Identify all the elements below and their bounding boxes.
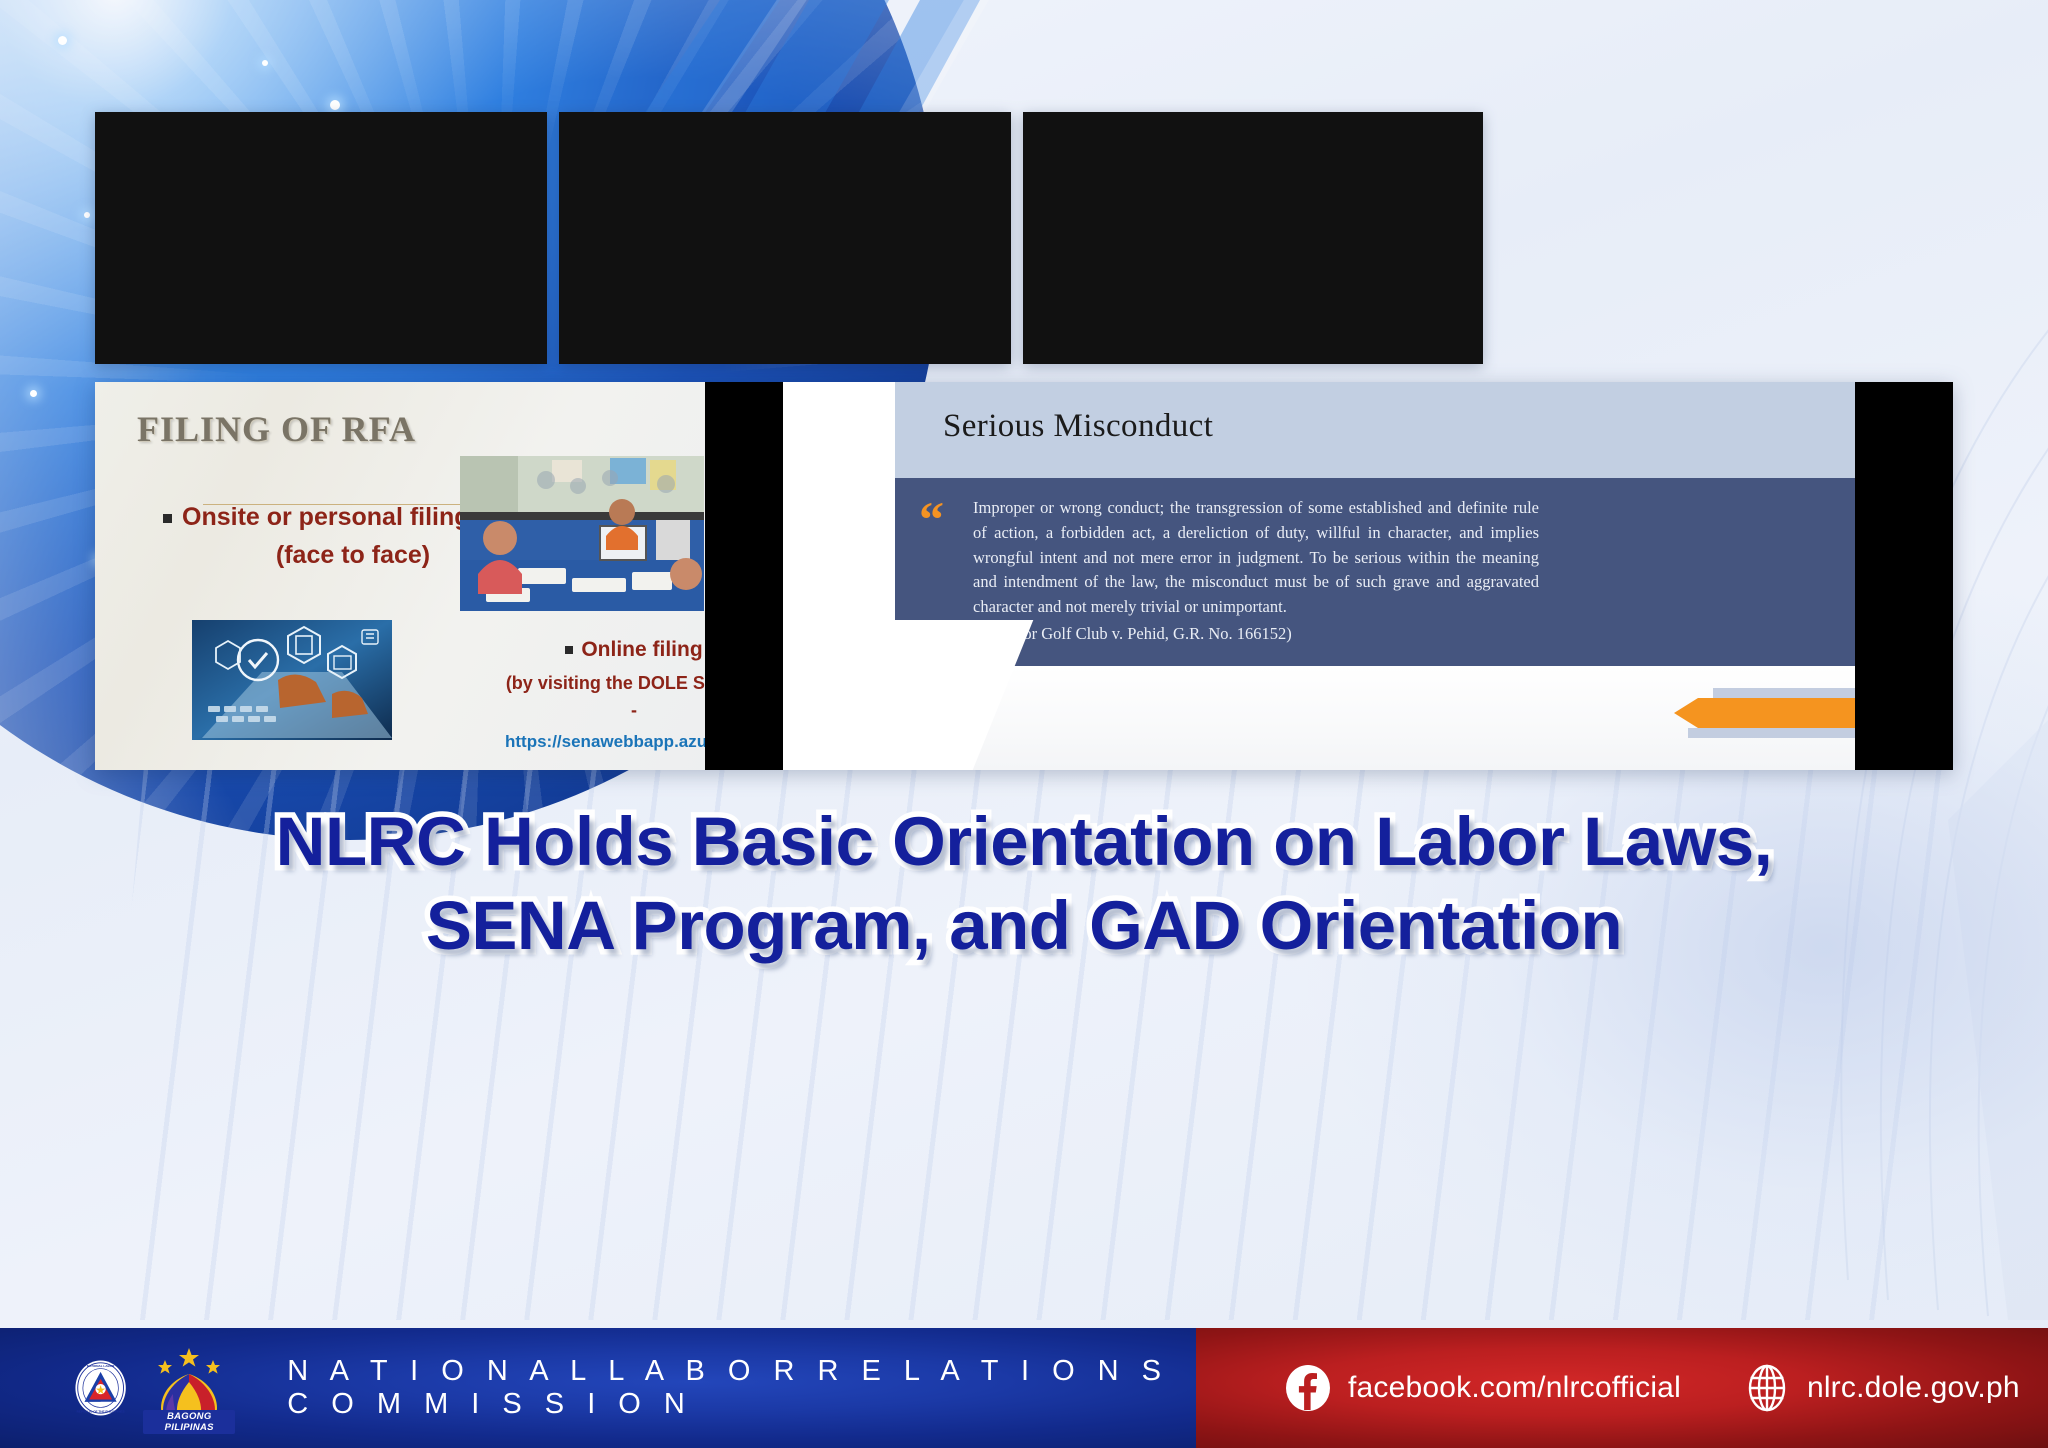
bullet-online-filing-line1: Online filing [581,638,702,661]
zoom-tile-grid [95,112,547,364]
zoom-tile-grid [1023,112,1483,364]
bagong-pilipinas-logo: BAGONG PILIPINAS [143,1344,235,1432]
quotation-mark-icon: “ [919,494,944,544]
photo-onsite-filing-svg [460,456,704,611]
quote-text-block: Improper or wrong conduct; the transgres… [973,496,1539,647]
svg-text:REPUBLIC OF THE PHILIPPINES: REPUBLIC OF THE PHILIPPINES [77,1410,125,1414]
svg-text:NATIONAL LABOR: NATIONAL LABOR [87,1364,115,1368]
overlay-video-column-middle[interactable] [705,382,787,770]
overlay-video-column-right[interactable] [1855,382,1953,770]
headline-line-2: SENA Program, and GAD Orientation [0,884,2048,968]
photo-online-filing-svg [192,620,392,740]
photo-onsite-filing-counter [460,456,704,611]
footer-organization-name: N A T I O N A L L A B O R R E L A T I O … [287,1355,1196,1421]
headline-line-1: NLRC Holds Basic Orientation on Labor La… [0,800,2048,884]
footer-blue-section: NATIONAL LABOR REPUBLIC OF THE PHILIPPIN… [0,1328,1196,1448]
website-url-text: nlrc.dole.gov.ph [1807,1371,2020,1405]
footer-red-section: facebook.com/nlrcofficial nlrc.dole.gov.… [1196,1328,2048,1448]
page-headline: NLRC Holds Basic Orientation on Labor La… [0,800,2048,968]
bagong-pilipinas-label: BAGONG PILIPINAS [143,1410,235,1434]
facebook-icon [1284,1364,1332,1412]
zoom-gallery-panel-right[interactable] [1023,112,1483,364]
nlrc-seal-icon: NATIONAL LABOR REPUBLIC OF THE PHILIPPIN… [72,1347,129,1429]
quote-body: Improper or wrong conduct; the transgres… [973,498,1539,616]
bullet-square-icon-2 [565,646,573,654]
footer-website-item[interactable]: nlrc.dole.gov.ph [1743,1364,2020,1412]
quote-citation: (Villamor Golf Club v. Pehid, G.R. No. 1… [973,622,1539,647]
zoom-tile-grid [559,112,1011,364]
slide-title-serious-misconduct: Serious Misconduct [943,408,1213,445]
zoom-gallery-panel-middle[interactable] [559,112,1011,364]
footer-facebook-item[interactable]: facebook.com/nlrcofficial [1284,1364,1681,1412]
facebook-handle-text: facebook.com/nlrcofficial [1348,1371,1681,1405]
photo-online-filing-laptop [192,620,392,740]
bullet-onsite-filing-line1: Onsite or personal filing [182,503,470,531]
slide-filing-of-rfa: FILING OF RFA ؃ Onsite or personal filin… [95,382,783,770]
zoom-gallery-panel-left[interactable] [95,112,547,364]
slide-header-white-wedge [783,382,895,478]
presentation-screenshare-area: FILING OF RFA ؃ Onsite or personal filin… [95,382,1953,770]
page-footer: NATIONAL LABOR REPUBLIC OF THE PHILIPPIN… [0,1328,2048,1448]
slide-title-filing-of-rfa: FILING OF RFA [137,408,416,450]
zoom-meeting-strip [95,112,1953,364]
slide-serious-misconduct: Serious Misconduct “ Improper or wrong c… [783,382,1953,770]
globe-icon [1743,1364,1791,1412]
slide-footer-diagonal [783,620,1033,770]
bullet-square-icon [163,514,172,523]
